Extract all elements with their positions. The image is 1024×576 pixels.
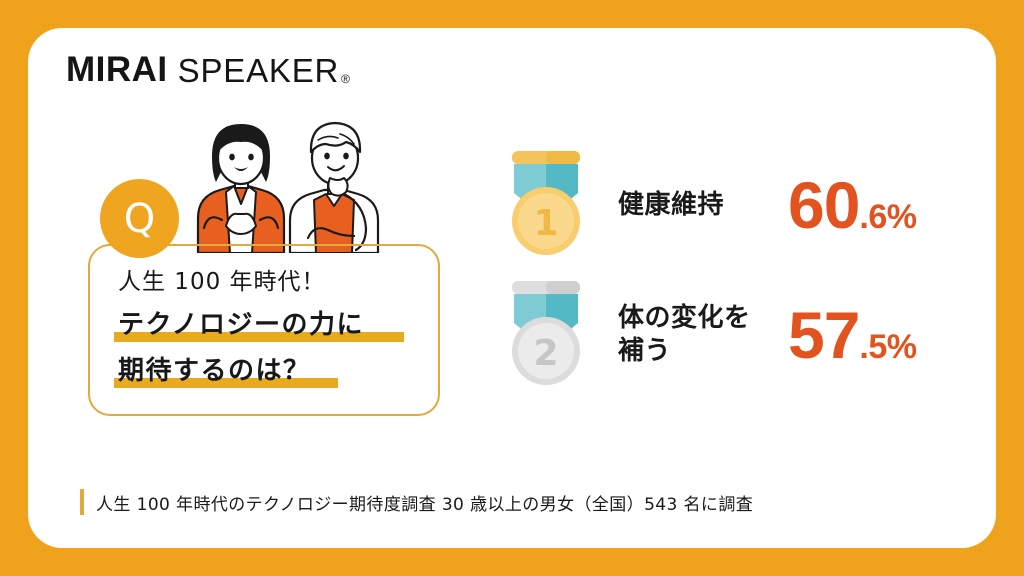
question-line-3: 期待するのは？ <box>118 348 438 394</box>
gold-medal-icon: 1 <box>500 149 592 261</box>
woman-figure <box>198 124 284 253</box>
ranking-label-1: 健康維持 <box>618 189 788 222</box>
ranking-value-2-minor: .5% <box>859 330 916 364</box>
silver-medal-icon: 2 <box>500 279 592 391</box>
question-line-2-text: テクノロジーの力に <box>118 310 364 340</box>
question-badge: Q <box>100 179 179 258</box>
logo-mirai-text: MIRAI <box>66 52 168 87</box>
ranking-value-2: 57 .5% <box>788 302 960 368</box>
silver-medal-rank-number: 2 <box>533 333 558 374</box>
two-people-illustration <box>168 108 398 253</box>
footer-accent-bar <box>80 489 84 515</box>
ranking-value-2-major: 57 <box>788 302 859 368</box>
ranking-row-2: 2 体の変化を 補う 57 .5% <box>500 270 960 400</box>
question-line-2: テクノロジーの力に <box>118 302 438 348</box>
ranking-label-2-line2: 補う <box>618 335 788 368</box>
ranking-row-1: 1 健康維持 60 .6% <box>500 140 960 270</box>
ranking-list: 1 健康維持 60 .6% 2 <box>500 140 960 400</box>
ranking-label-2: 体の変化を 補う <box>618 302 788 368</box>
gold-medal-rank-number: 1 <box>533 203 558 244</box>
question-text-block: 人生 100 年時代！ テクノロジーの力に 期待するのは？ <box>118 262 438 394</box>
question-badge-letter: Q <box>124 199 155 239</box>
footer-note-text: 人生 100 年時代のテクノロジー期待度調査 30 歳以上の男女（全国）543 … <box>96 490 753 515</box>
ranking-value-1-minor: .6% <box>859 200 916 234</box>
question-line-3-text: 期待するのは？ <box>118 356 311 386</box>
logo-speaker-text: SPEAKER <box>178 54 340 87</box>
ranking-label-2-line1: 体の変化を <box>618 302 788 335</box>
slide-root: MIRAI SPEAKER ® <box>0 0 1024 576</box>
question-line-1: 人生 100 年時代！ <box>118 262 438 302</box>
ranking-value-1: 60 .6% <box>788 172 960 238</box>
brand-logo: MIRAI SPEAKER ® <box>66 52 350 87</box>
registered-trademark-icon: ® <box>341 73 350 85</box>
footer-note: 人生 100 年時代のテクノロジー期待度調査 30 歳以上の男女（全国）543 … <box>80 489 753 515</box>
elder-man-figure <box>290 123 378 253</box>
ranking-value-1-major: 60 <box>788 172 859 238</box>
